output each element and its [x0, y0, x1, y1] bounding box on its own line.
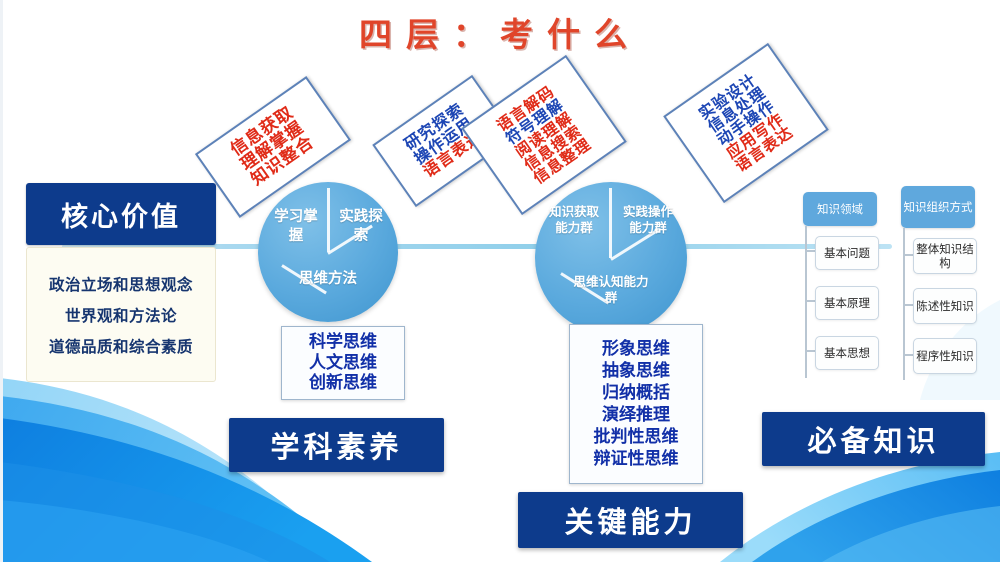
tree-root-knowledge-domain: 知识领域: [803, 192, 877, 226]
core-value-body: 政治立场和思想观念 世界观和方法论 道德品质和综合素质: [26, 247, 216, 382]
tree-root-knowledge-organization: 知识组织方式: [901, 186, 975, 228]
list-item: 人文思维: [309, 353, 377, 374]
tree-branch: [903, 304, 913, 306]
list-item: 批判性思维: [594, 426, 679, 448]
pie-segment-label: 实践操作能力群: [619, 204, 677, 236]
page-title: 四层：考什么: [0, 8, 1000, 56]
list-item: 科学思维: [309, 332, 377, 353]
tree-node: 整体知识结构: [913, 238, 977, 274]
pie-segment-label: 知识获取能力群: [545, 204, 603, 236]
list-item: 演绎推理: [602, 404, 670, 426]
core-value-panel: 核心价值 政治立场和思想观念 世界观和方法论 道德品质和综合素质: [26, 183, 216, 383]
tree-node: 基本思想: [815, 336, 879, 370]
left-edge-line: [0, 0, 3, 562]
tree-trunk: [805, 226, 807, 378]
core-value-line: 政治立场和思想观念: [49, 273, 193, 295]
thinking-methods-list: 科学思维 人文思维 创新思维: [281, 326, 405, 400]
pie-segment-label: 思维认知能力群: [569, 274, 653, 306]
banner-key-ability: 关键能力: [518, 492, 743, 548]
pie-divider: [609, 188, 612, 258]
pie-divider: [327, 188, 330, 252]
cognitive-thinking-list: 形象思维 抽象思维 归纳概括 演绎推理 批判性思维 辩证性思维: [569, 324, 703, 484]
tree-node: 基本问题: [815, 236, 879, 270]
list-item: 抽象思维: [602, 360, 670, 382]
pie-segment-label: 学习掌握: [270, 208, 322, 245]
slide-canvas: 四层：考什么 核心价值 政治立场和思想观念 世界观和方法论 道德品质和综合素质 …: [0, 0, 1000, 562]
banner-subject-literacy: 学科素养: [229, 418, 444, 472]
list-item: 辩证性思维: [594, 448, 679, 470]
tree-branch: [805, 300, 815, 302]
tree-branch: [805, 350, 815, 352]
core-value-line: 世界观和方法论: [65, 304, 177, 326]
tag-experiment-design: 实验设计 信息处理 动手操作 应用写作 语言表达: [663, 43, 829, 203]
tree-node: 基本原理: [815, 286, 879, 320]
list-item: 归纳概括: [602, 382, 670, 404]
tree-branch: [805, 250, 815, 252]
list-item: 形象思维: [602, 338, 670, 360]
tree-branch: [903, 354, 913, 356]
tree-node: 程序性知识: [913, 338, 977, 374]
tree-node: 陈述性知识: [913, 288, 977, 324]
list-item: 创新思维: [309, 373, 377, 394]
subject-literacy-wheel: 学习掌握 实践探索 思维方法: [258, 182, 398, 322]
pie-segment-label: 思维方法: [296, 270, 360, 289]
core-value-line: 道德品质和综合素质: [49, 335, 193, 357]
banner-essential-knowledge: 必备知识: [762, 412, 985, 466]
pie-segment-label: 实践探索: [335, 208, 387, 245]
tree-branch: [903, 254, 913, 256]
core-value-header: 核心价值: [26, 183, 216, 245]
key-ability-wheel: 知识获取能力群 实践操作能力群 思维认知能力群: [535, 182, 687, 334]
